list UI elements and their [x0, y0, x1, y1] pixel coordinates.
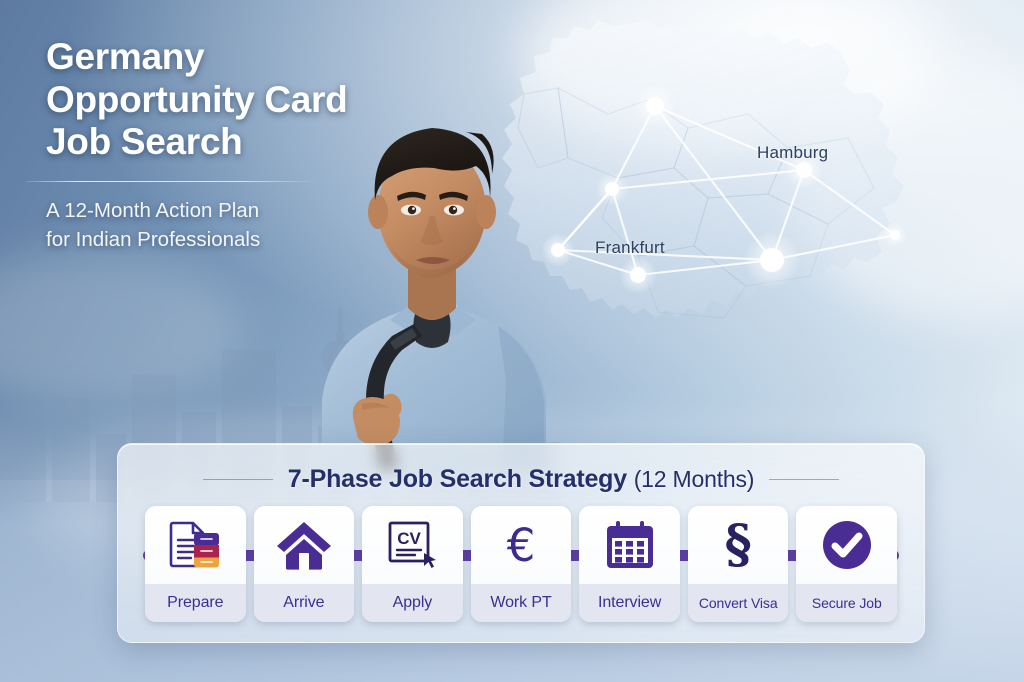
page-title: Germany Opportunity Card Job Search	[46, 36, 406, 164]
page-subtitle: A 12-Month Action Plan for Indian Profes…	[46, 196, 406, 255]
phase-label: Convert Visa	[688, 584, 789, 622]
section-paragraph-icon: §	[688, 506, 789, 584]
phase-label: Secure Job	[796, 584, 897, 622]
cv-document-icon: CV	[362, 506, 463, 584]
title-rule-right	[769, 479, 839, 480]
title-line-3: Job Search	[46, 121, 406, 164]
phase-card-work-pt[interactable]: € Work PT	[471, 506, 572, 622]
phase-label: Interview	[579, 584, 680, 622]
phase-card-secure-job[interactable]: Secure Job	[796, 506, 897, 622]
title-line-2: Opportunity Card	[46, 79, 406, 122]
subtitle-line-1: A 12-Month Action Plan	[46, 196, 406, 226]
title-divider	[26, 181, 318, 182]
euro-glyph: €	[507, 523, 536, 568]
phase-card-arrive[interactable]: Arrive	[254, 506, 355, 622]
phase-card-interview[interactable]: Interview	[579, 506, 680, 622]
strategy-panel: 7-Phase Job Search Strategy (12 Months)	[117, 443, 925, 643]
svg-text:CV: CV	[398, 529, 422, 548]
strategy-panel-title: 7-Phase Job Search Strategy (12 Months)	[118, 455, 924, 503]
phase-card-convert-visa[interactable]: § Convert Visa	[688, 506, 789, 622]
strategy-title-bold: 7-Phase Job Search Strategy	[288, 465, 627, 493]
phase-label: Arrive	[254, 584, 355, 622]
city-label-frankfurt: Frankfurt	[595, 238, 665, 258]
phase-card-apply[interactable]: CV Apply	[362, 506, 463, 622]
phase-card-prepare[interactable]: Prepare	[145, 506, 246, 622]
subtitle-line-2: for Indian Professionals	[46, 225, 406, 255]
phase-card-row: Prepare Arrive CV	[145, 506, 897, 622]
documents-stack-icon	[145, 506, 246, 584]
euro-icon: €	[471, 506, 572, 584]
phase-label: Work PT	[471, 584, 572, 622]
phase-label: Prepare	[145, 584, 246, 622]
headline-block: Germany Opportunity Card Job Search A 12…	[46, 36, 406, 255]
calendar-icon	[579, 506, 680, 584]
strategy-title-light: (12 Months)	[634, 466, 755, 492]
poster-canvas: Hamburg Frankfurt	[0, 0, 1024, 682]
check-circle-icon	[796, 506, 897, 584]
city-label-hamburg: Hamburg	[757, 143, 828, 163]
title-rule-left	[203, 479, 273, 480]
section-glyph: §	[725, 519, 752, 571]
strategy-title-text: 7-Phase Job Search Strategy (12 Months)	[288, 465, 754, 494]
phase-label: Apply	[362, 584, 463, 622]
title-line-1: Germany	[46, 36, 406, 79]
house-icon	[254, 506, 355, 584]
